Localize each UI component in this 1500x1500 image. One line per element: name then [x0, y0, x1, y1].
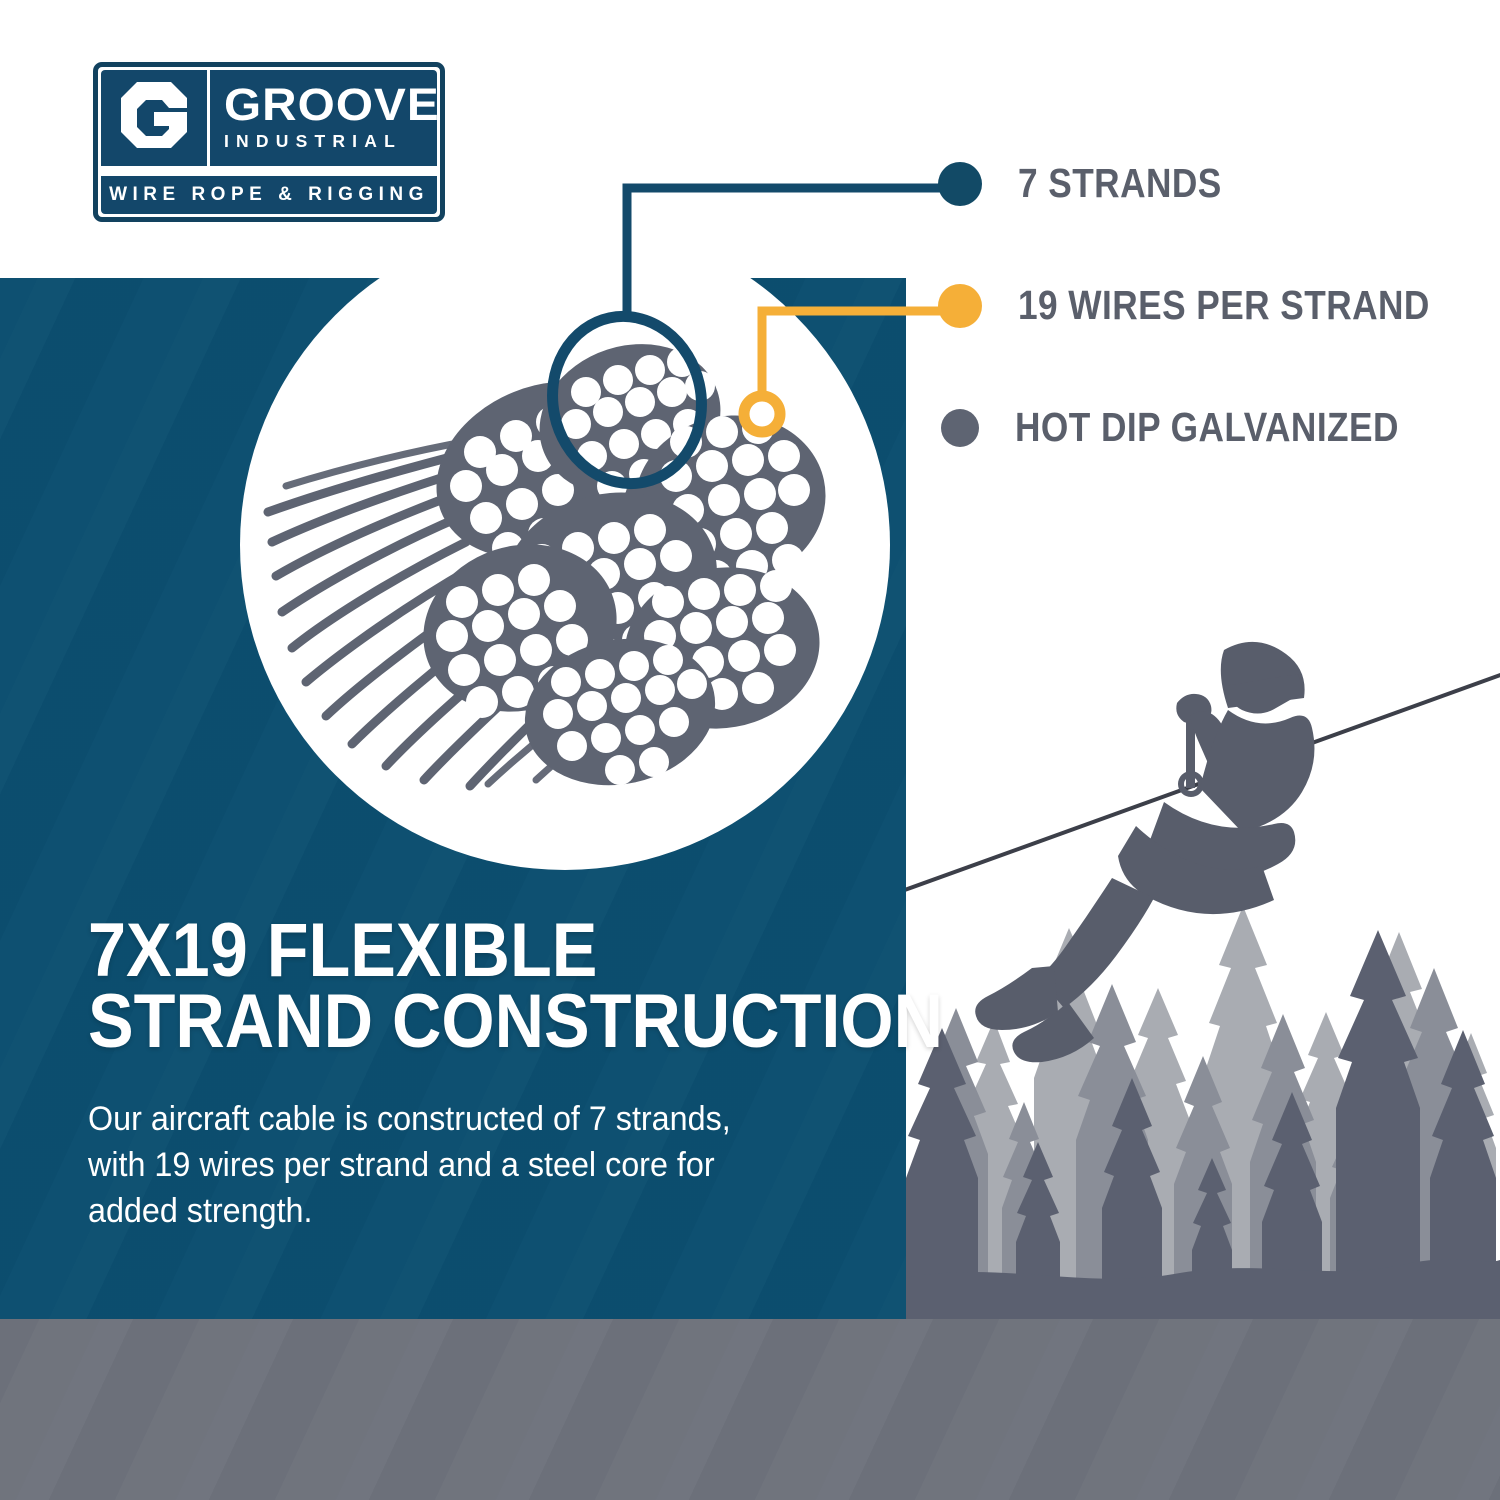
logo-top-row: GROOVE INDUSTRIAL	[101, 70, 437, 166]
callout-galvanized: HOT DIP GALVANIZED	[941, 404, 1461, 451]
brand-logo[interactable]: GROOVE INDUSTRIAL WIRE ROPE & RIGGING	[93, 62, 445, 222]
logo-subtitle: INDUSTRIAL	[224, 131, 437, 152]
callout-dot-strands	[938, 162, 982, 206]
infographic-canvas: 7 STRANDS 19 WIRES PER STRAND HOT DIP GA…	[0, 0, 1500, 1500]
logo-inner: GROOVE INDUSTRIAL WIRE ROPE & RIGGING	[101, 70, 437, 214]
callout-dot-wires	[938, 284, 982, 328]
logo-name: GROOVE	[224, 84, 437, 125]
callout-strands: 7 STRANDS	[938, 160, 1255, 207]
callout-wires: 19 WIRES PER STRAND	[938, 282, 1497, 329]
marker-ring-wires	[744, 396, 780, 432]
logo-tagline: WIRE ROPE & RIGGING	[109, 184, 429, 206]
bottom-gray-band	[0, 1319, 1500, 1500]
logo-tagline-bar: WIRE ROPE & RIGGING	[101, 172, 437, 214]
headline-line-2: STRAND CONSTRUCTION	[88, 986, 799, 1057]
headline-line-1: 7X19 FLEXIBLE	[88, 915, 799, 986]
callout-label-galvanized: HOT DIP GALVANIZED	[1015, 404, 1399, 451]
page-title: 7X19 FLEXIBLE STRAND CONSTRUCTION	[88, 915, 799, 1058]
groove-g-icon	[115, 82, 193, 154]
callout-dot-galvanized	[941, 409, 979, 447]
callout-label-wires: 19 WIRES PER STRAND	[1018, 282, 1430, 329]
gray-band-texture	[0, 1319, 1500, 1500]
logo-wordmark: GROOVE INDUSTRIAL	[210, 70, 437, 166]
logo-g-mark	[101, 70, 210, 166]
body-paragraph: Our aircraft cable is constructed of 7 s…	[88, 1096, 782, 1235]
cable-diagram-svg	[0, 0, 1500, 1500]
text-block: 7X19 FLEXIBLE STRAND CONSTRUCTION Our ai…	[88, 915, 878, 1235]
callout-label-strands: 7 STRANDS	[1018, 160, 1222, 207]
